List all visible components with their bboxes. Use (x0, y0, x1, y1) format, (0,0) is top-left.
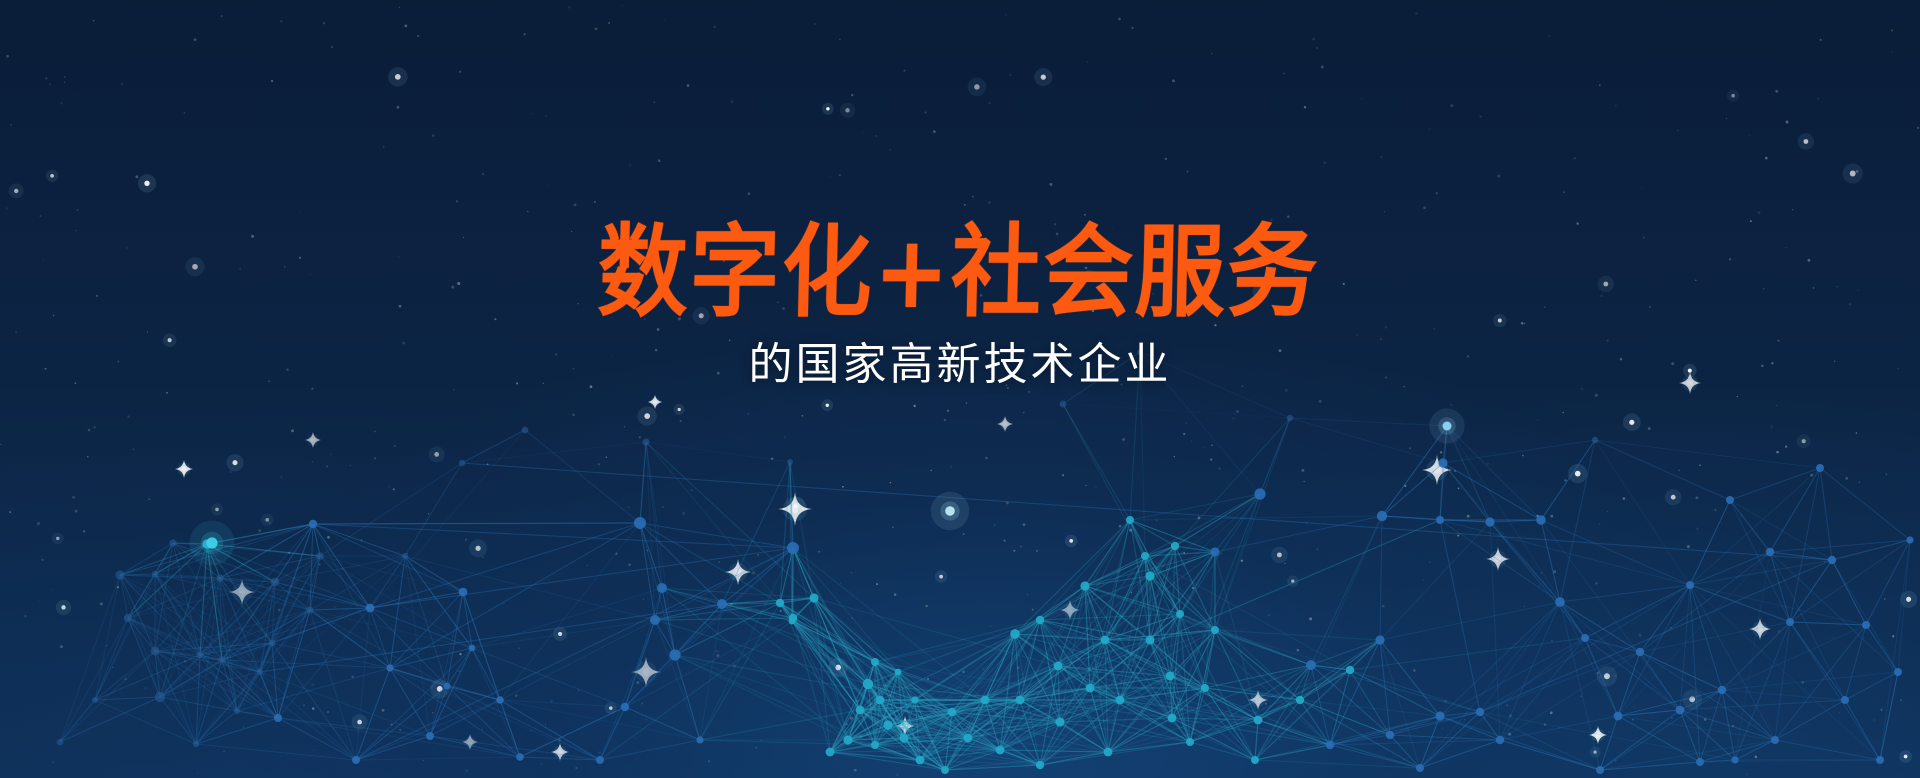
network-mesh-graphic (0, 0, 1920, 778)
hero-banner: 数字化+社会服务 的国家高新技术企业 (0, 0, 1920, 778)
